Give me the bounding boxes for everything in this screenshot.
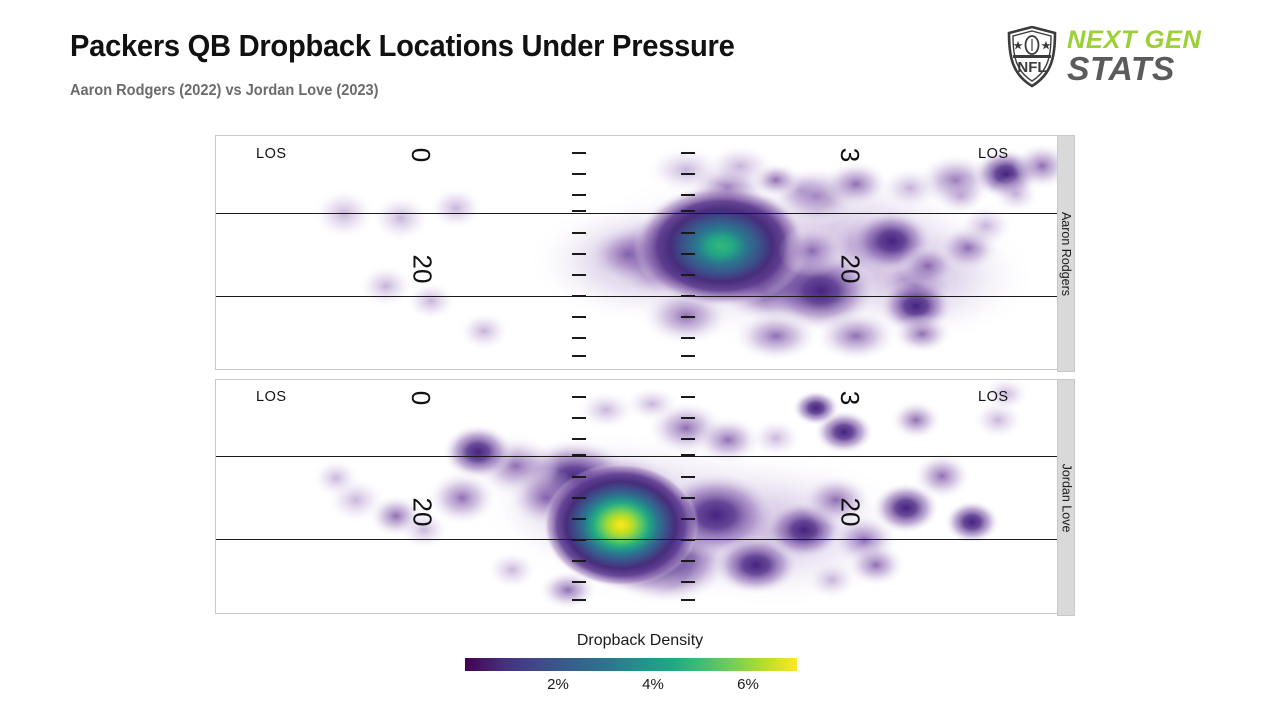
hash-column-left [572, 380, 586, 613]
yard-line-lower [216, 539, 1057, 540]
los-label-right: LOS [978, 389, 1009, 405]
dropback-density-chart: LOS LOS 0 20 20 3 Aaron Rodgers [0, 0, 1280, 720]
yard-number-20-left: 20 [409, 498, 435, 527]
yard-number-30-right: 3 [837, 391, 863, 405]
facet-strip-aaron-rodgers: Aaron Rodgers [1057, 135, 1075, 372]
legend-tick-4: 4% [642, 676, 664, 693]
panel-jordan-love: LOS LOS 0 20 20 3 [215, 379, 1058, 614]
density-heatmap-love [216, 380, 1057, 613]
density-heatmap-rodgers [216, 136, 1057, 369]
legend-colorbar [465, 658, 797, 671]
facet-strip-label: Aaron Rodgers [1059, 211, 1073, 295]
yard-number-20-right: 20 [837, 255, 863, 284]
los-label-left: LOS [256, 146, 287, 162]
los-label-left: LOS [256, 389, 287, 405]
yard-number-20-right: 20 [837, 498, 863, 527]
legend: Dropback Density 2% 4% 6% [0, 632, 1280, 712]
yard-number-0-left: 0 [408, 148, 434, 162]
legend-title: Dropback Density [0, 632, 1280, 650]
facet-strip-label: Jordan Love [1059, 463, 1073, 532]
yard-number-30-right: 3 [837, 148, 863, 162]
yard-line-upper [216, 213, 1057, 214]
hash-column-left [572, 136, 586, 369]
legend-tick-2: 2% [547, 676, 569, 693]
los-label-right: LOS [978, 146, 1009, 162]
panel-aaron-rodgers: LOS LOS 0 20 20 3 [215, 135, 1058, 370]
hash-column-right [681, 136, 695, 369]
hash-column-right [681, 380, 695, 613]
yard-number-0-left: 0 [408, 391, 434, 405]
yard-number-20-left: 20 [409, 255, 435, 284]
yard-line-upper [216, 456, 1057, 457]
legend-tick-6: 6% [737, 676, 759, 693]
facet-strip-jordan-love: Jordan Love [1057, 379, 1075, 616]
yard-line-lower [216, 296, 1057, 297]
